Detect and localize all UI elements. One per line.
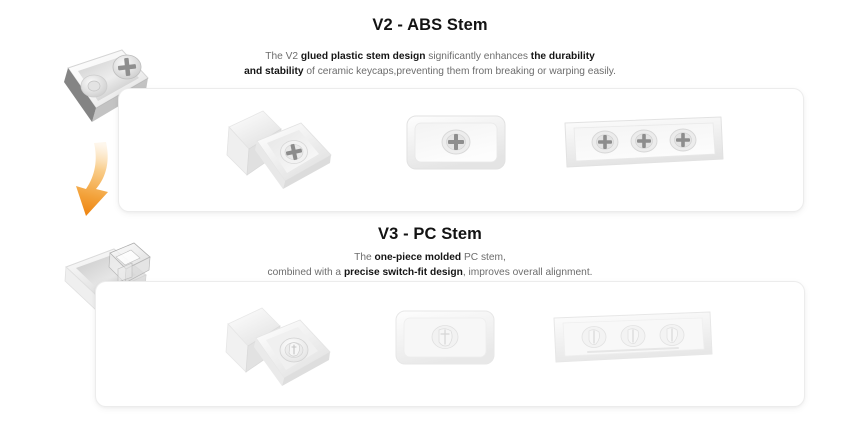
- v2-copy-text: significantly enhances: [425, 51, 530, 62]
- v2-product-keycap-spacebar: [559, 107, 729, 177]
- v2-copy-bold-durability: the durability: [531, 51, 595, 62]
- v3-product-keycap-flat: [390, 302, 500, 372]
- v3-product-card: [95, 281, 805, 407]
- v2-copy-text: of ceramic keycaps,preventing them from …: [304, 66, 616, 77]
- section-v3-pc-stem: V3 - PC Stem The one-piece molded PC ste…: [0, 205, 860, 430]
- v3-copy-bold-switch-fit: precise switch-fit design: [344, 267, 463, 278]
- v3-product-keycap-spacebar: [548, 302, 718, 372]
- pc-stem-molded-group: [582, 325, 684, 348]
- section-v2-abs-stem: V2 - ABS Stem The V2 glued plastic stem …: [0, 0, 860, 215]
- pc-stem-molded: [432, 326, 458, 349]
- v2-product-card: [118, 88, 804, 212]
- v3-product-keycap-pair: [204, 294, 344, 394]
- v2-product-keycap-flat: [401, 107, 511, 177]
- v3-product-row: [96, 282, 804, 406]
- v2-copy-text: The V2: [265, 51, 301, 62]
- v2-copy-bold-stem-design: glued plastic stem design: [301, 51, 426, 62]
- v3-copy-text: The: [354, 252, 374, 263]
- v3-copy-text: PC stem,: [461, 252, 506, 263]
- v3-copy-bold-one-piece: one-piece molded: [375, 252, 462, 263]
- cross-stem-glyph-group: [592, 129, 696, 153]
- pc-stem-molded: [280, 338, 308, 362]
- v2-copy-bold-stability: and stability: [244, 66, 303, 77]
- v2-product-row: [119, 89, 803, 211]
- v2-heading: V2 - ABS Stem: [0, 16, 860, 35]
- v3-copy-text: , improves overall alignment.: [463, 267, 593, 278]
- v2-product-keycap-pair: [205, 97, 345, 197]
- v3-copy-text: combined with a: [267, 267, 343, 278]
